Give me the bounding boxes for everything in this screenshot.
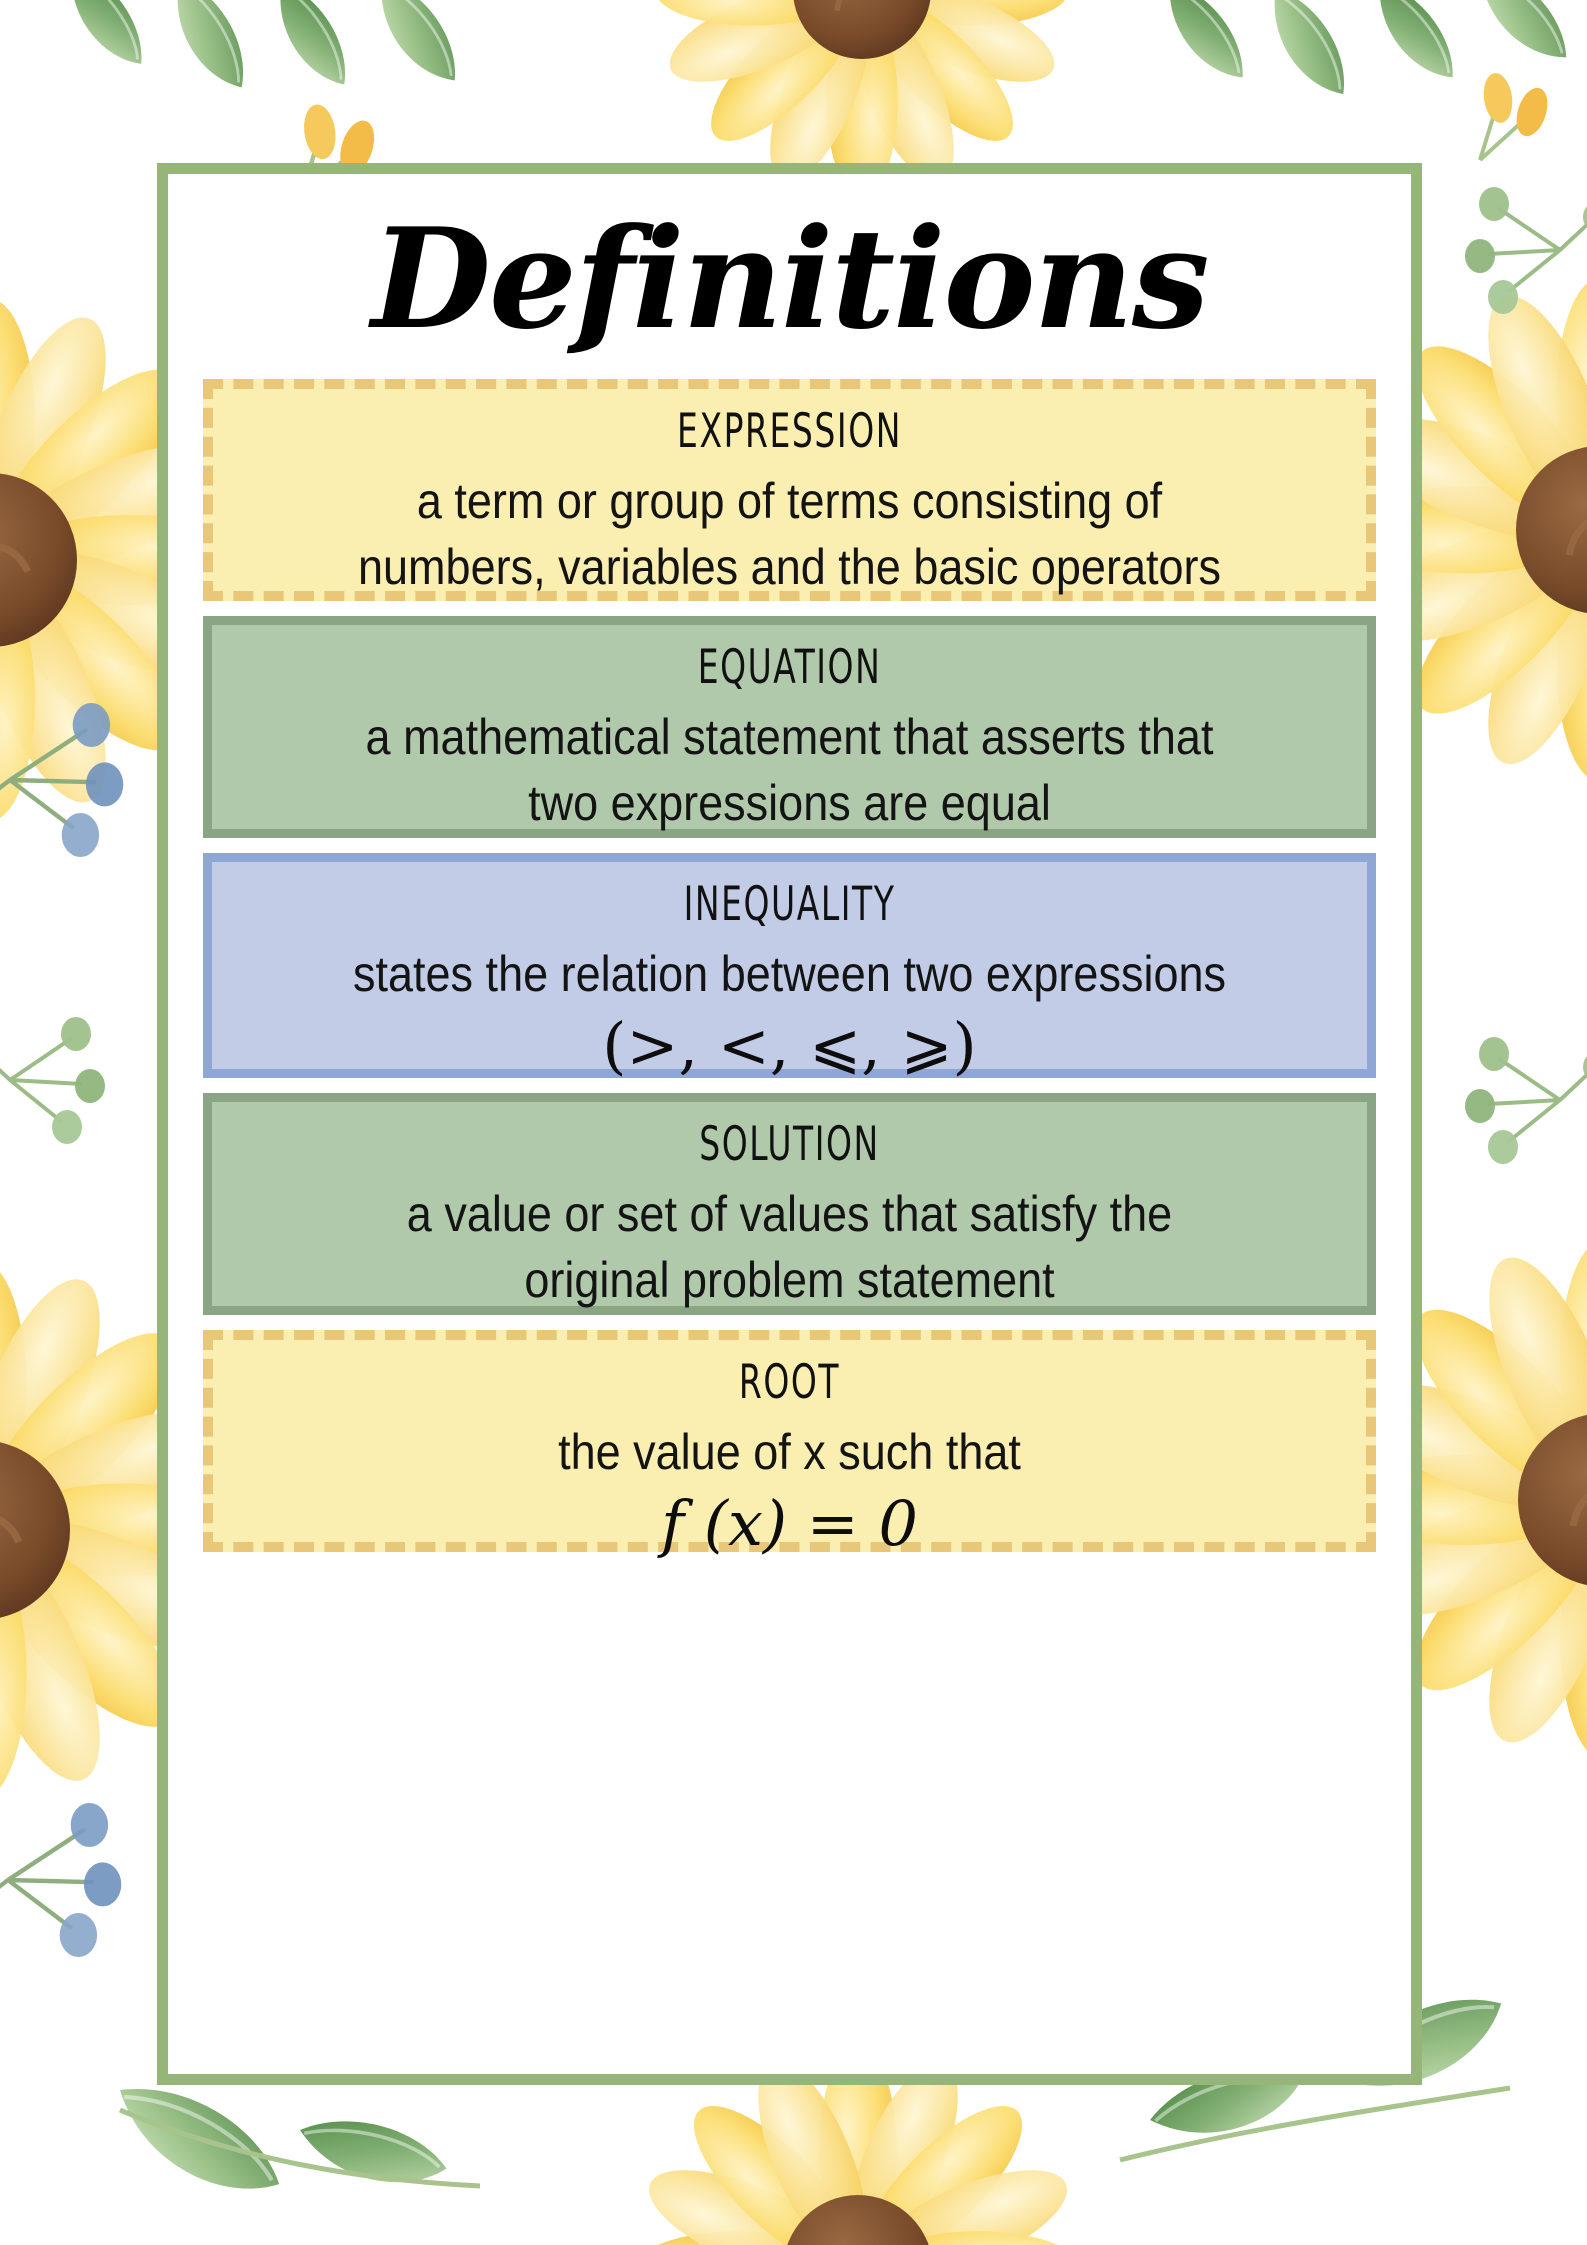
definition-card-equation: EQUATION a mathematical statement that a…	[203, 616, 1376, 838]
card-term-inequality: INEQUALITY	[359, 876, 1219, 935]
green-berry-sprig-left	[0, 1017, 105, 1144]
card-line: two expressions are equal	[293, 770, 1286, 837]
poster-frame: Definitions EXPRESSION a term or group o…	[157, 163, 1422, 2085]
card-term-expression: EXPRESSION	[360, 403, 1219, 462]
card-line: a term or group of terms consisting of	[294, 468, 1285, 535]
blue-berry-sprig-left-upper	[0, 703, 123, 857]
definition-card-root: ROOT the value of x such that f (x) = 0	[203, 1330, 1376, 1552]
card-line: the value of x such that	[294, 1419, 1285, 1486]
blue-berry-sprig-left-lower	[0, 1803, 121, 1957]
card-line: original problem statement	[293, 1247, 1286, 1314]
card-term-root: ROOT	[360, 1354, 1219, 1413]
card-line: a value or set of values that satisfy th…	[293, 1181, 1286, 1248]
definition-card-solution: SOLUTION a value or set of values that s…	[203, 1093, 1376, 1315]
card-math-root-formula: f (x) = 0	[239, 1487, 1340, 1561]
page-title: Definitions	[168, 184, 1411, 374]
yellow-bud-sprig-top-right	[1480, 71, 1553, 160]
card-term-equation: EQUATION	[359, 639, 1219, 698]
eucalyptus-leaves-top-left	[40, 0, 500, 99]
card-term-solution: SOLUTION	[359, 1116, 1219, 1175]
card-math-inequality-symbols: (>, <, ⩽, ⩾)	[238, 1009, 1341, 1083]
card-line: a mathematical statement that asserts th…	[293, 704, 1286, 771]
definition-card-list: EXPRESSION a term or group of terms cons…	[203, 379, 1376, 1567]
leaf-bottom-left	[101, 2067, 480, 2213]
green-berry-sprig-right-lower	[1465, 1037, 1587, 1164]
card-line: numbers, variables and the basic operato…	[294, 534, 1285, 601]
definition-card-inequality: INEQUALITY states the relation between t…	[203, 853, 1376, 1078]
definition-card-expression: EXPRESSION a term or group of terms cons…	[203, 379, 1376, 601]
green-berry-sprig-right-upper	[1465, 187, 1587, 314]
card-line: states the relation between two expressi…	[293, 941, 1286, 1008]
eucalyptus-leaves-top-right	[1140, 0, 1583, 107]
